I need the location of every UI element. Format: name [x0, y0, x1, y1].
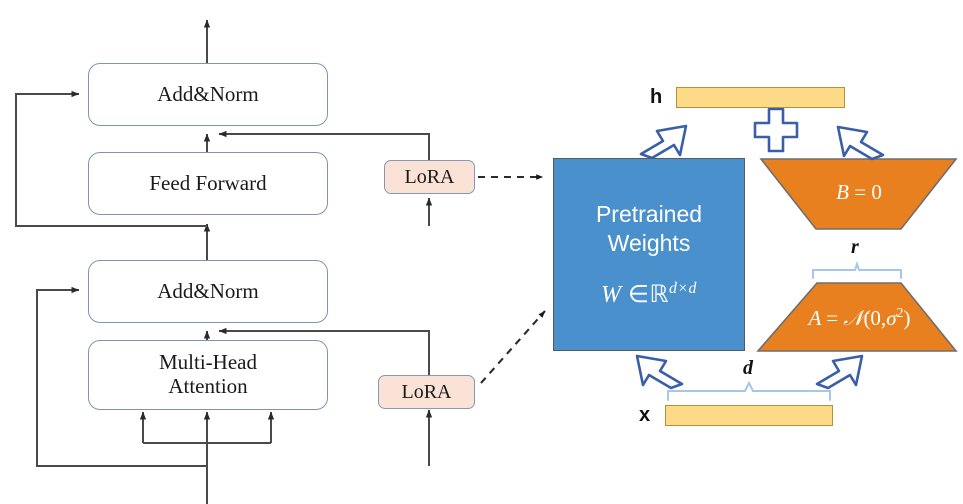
lora-adapter-feed-forward-label: LoRA: [405, 166, 455, 189]
lora-transformer-diagram: Add&Norm Feed Forward Add&Norm Multi-Hea…: [0, 0, 963, 504]
block-add-norm-bottom-label: Add&Norm: [157, 280, 259, 304]
pretrained-weights-formula: W ∈ℝd×d: [601, 280, 697, 309]
formula-dimension-exponent: d×d: [669, 280, 697, 297]
matrix-a-equals: =: [826, 306, 838, 330]
formula-real-field-symbol: ℝ: [649, 282, 669, 308]
pretrained-weights-block[interactable]: Pretrained Weights W ∈ℝd×d: [553, 158, 745, 351]
lora-adapter-attention[interactable]: LoRA: [378, 375, 475, 409]
block-add-norm-top[interactable]: Add&Norm: [88, 63, 328, 126]
arrow-w-to-h: [641, 126, 686, 158]
lora-adapter-attention-label: LoRA: [402, 381, 452, 404]
pretrained-weights-title: Pretrained Weights: [554, 200, 744, 258]
block-multi-head-attention-label-line2: Attention: [168, 375, 247, 399]
block-multi-head-attention[interactable]: Multi-Head Attention: [88, 340, 328, 410]
matrix-a-sigma: σ: [886, 306, 896, 330]
input-vector-letter-text: x: [639, 404, 650, 426]
rank-dimension-text: r: [851, 236, 859, 258]
arrow-b-to-h: [838, 127, 883, 159]
block-multi-head-attention-label-line1: Multi-Head: [159, 351, 257, 375]
pretrained-weights-title-line2: Weights: [608, 230, 691, 256]
matrix-b-label: B = 0: [816, 180, 902, 205]
output-vector-letter: h: [650, 86, 662, 109]
matrix-b-value: 0: [871, 180, 882, 204]
lora-callout-connectors: [478, 177, 545, 383]
matrix-a-distribution: 𝒩: [843, 306, 863, 330]
input-vector-bar: [665, 405, 833, 426]
pretrained-weights-title-line1: Pretrained: [596, 201, 702, 227]
model-dimension-label: d: [743, 357, 753, 380]
plus-operator-icon: [755, 109, 797, 151]
lora-adapter-feed-forward[interactable]: LoRA: [384, 160, 475, 194]
matrix-a-args-close: ): [903, 306, 910, 330]
output-vector-bar: [676, 87, 845, 108]
rank-dimension-label: r: [851, 236, 859, 259]
block-add-norm-bottom[interactable]: Add&Norm: [88, 260, 328, 323]
matrix-a-args-open: (0,: [863, 306, 886, 330]
block-feed-forward[interactable]: Feed Forward: [88, 152, 328, 215]
matrix-b-name: B: [836, 180, 849, 204]
input-vector-letter: x: [639, 404, 650, 427]
model-dimension-text: d: [743, 357, 753, 379]
arrow-x-to-a: [817, 356, 862, 388]
matrix-a-label: A = 𝒩(0,σ2): [772, 305, 947, 331]
output-vector-letter-text: h: [650, 86, 662, 108]
formula-element-of-symbol: ∈: [628, 282, 649, 308]
arrow-x-to-w: [637, 356, 682, 388]
formula-w-symbol: W: [601, 282, 622, 308]
matrix-b-equals: =: [854, 180, 866, 204]
matrix-a-name: A: [809, 306, 821, 330]
block-add-norm-top-label: Add&Norm: [157, 83, 259, 107]
block-feed-forward-label: Feed Forward: [149, 172, 266, 196]
